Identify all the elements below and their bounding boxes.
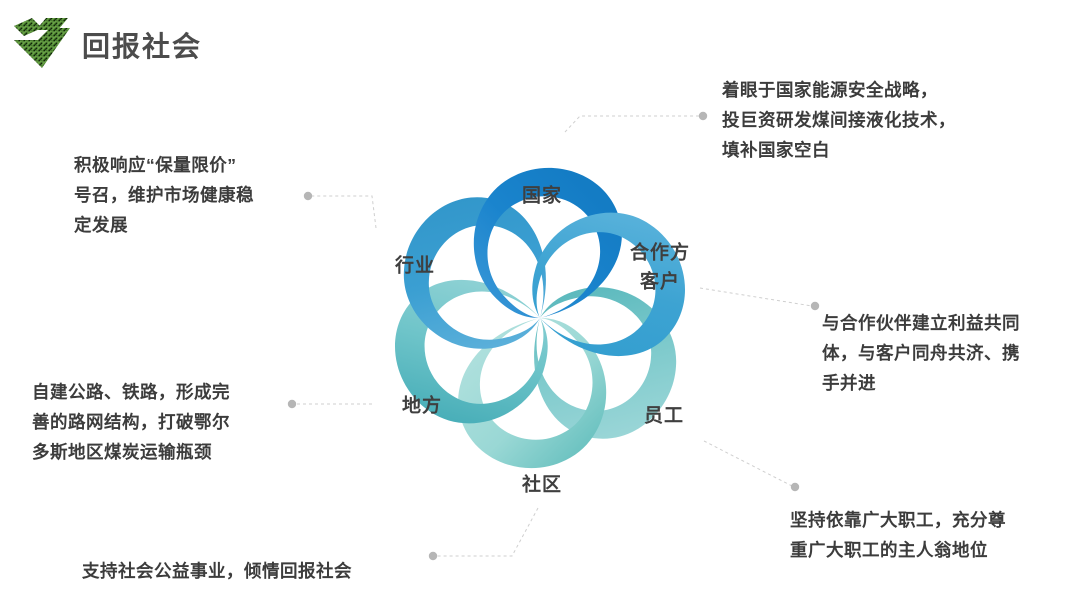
page-title: 回报社会 <box>82 25 202 65</box>
callout-partner-line-3: 手并进 <box>822 368 1062 398</box>
connector-dot-employee <box>791 483 799 491</box>
callout-industry: 积极响应“保量限价” 号召，维护市场健康稳 定发展 <box>74 150 306 240</box>
callout-community: 支持社会公益事业，倾情回报社会 <box>82 556 442 586</box>
callout-employee: 坚持依靠广大职工，充分尊 重广大职工的主人翁地位 <box>790 505 1058 565</box>
callout-community-line-1: 支持社会公益事业，倾情回报社会 <box>82 556 442 586</box>
green-chevron-logo-icon <box>12 16 74 72</box>
slide-canvas: 回报社会 <box>0 0 1080 606</box>
callout-country: 着眼于国家能源安全战略， 投巨资研发煤间接液化技术， 填补国家空白 <box>722 75 1052 165</box>
callout-country-line-2: 投巨资研发煤间接液化技术， <box>722 105 1052 135</box>
callout-country-line-1: 着眼于国家能源安全战略， <box>722 75 1052 105</box>
slide-header: 回报社会 <box>0 0 1080 86</box>
petal-label-community: 社区 <box>522 470 562 499</box>
petal-label-industry: 行业 <box>395 251 435 280</box>
callout-local-line-2: 善的路网结构，打破鄂尔 <box>32 407 294 437</box>
callout-local-line-3: 多斯地区煤炭运输瓶颈 <box>32 437 294 467</box>
callout-partner-line-2: 体，与客户同舟共济、携 <box>822 338 1062 368</box>
petal-label-local: 地方 <box>402 391 442 420</box>
petal-label-partner-line1: 合作方 <box>630 239 690 268</box>
callout-local-line-1: 自建公路、铁路，形成完 <box>32 377 294 407</box>
callout-country-line-3: 填补国家空白 <box>722 135 1052 165</box>
petal-label-partner: 合作方 客户 <box>630 239 690 298</box>
callout-partner-line-1: 与合作伙伴建立利益共同 <box>822 308 1062 338</box>
callout-industry-line-1: 积极响应“保量限价” <box>74 150 306 180</box>
callout-partner: 与合作伙伴建立利益共同 体，与客户同舟共济、携 手并进 <box>822 308 1062 398</box>
callout-industry-line-2: 号召，维护市场健康稳 <box>74 180 306 210</box>
callout-industry-line-3: 定发展 <box>74 210 306 240</box>
callout-local: 自建公路、铁路，形成完 善的路网结构，打破鄂尔 多斯地区煤炭运输瓶颈 <box>32 377 294 467</box>
six-petal-flower-diagram: 国家 合作方 客户 员工 社区 地方 行业 <box>330 108 750 528</box>
callout-employee-line-2: 重广大职工的主人翁地位 <box>790 535 1058 565</box>
callout-employee-line-1: 坚持依靠广大职工，充分尊 <box>790 505 1058 535</box>
petal-label-country: 国家 <box>522 181 562 210</box>
petal-label-partner-line2: 客户 <box>630 268 690 297</box>
connector-dot-partner <box>811 302 819 310</box>
petal-label-employee: 员工 <box>644 401 684 430</box>
